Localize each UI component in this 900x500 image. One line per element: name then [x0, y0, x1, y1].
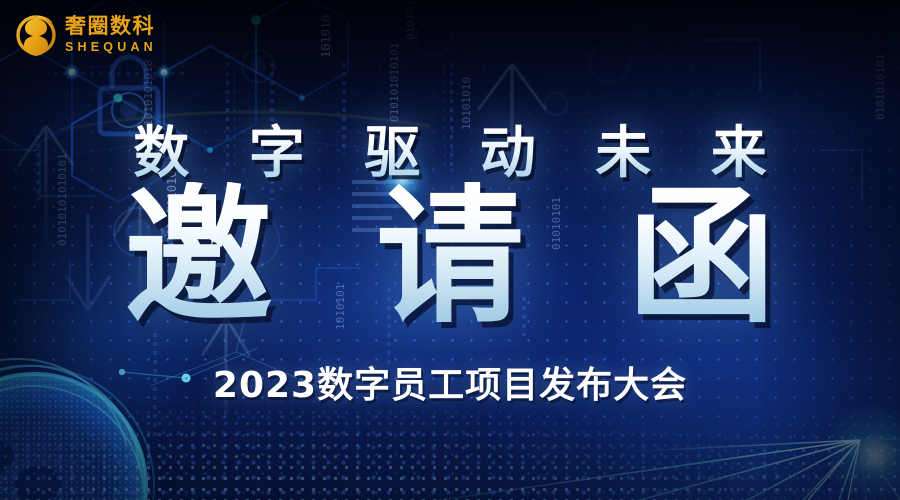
logo-name-en: SHEQUAN	[65, 41, 157, 54]
invitation-banner: 01010101010101 1010101010 010101010101 0…	[0, 0, 900, 500]
subtitle: 2023数字员工项目发布大会	[0, 356, 900, 408]
banner-text-block: 数 字 驱 动 未 来 邀 请 函 2023数字员工项目发布大会	[0, 0, 900, 500]
brand-logo[interactable]: 奢圈数科 SHEQUAN	[14, 12, 157, 58]
shequan-monogram-icon	[14, 12, 58, 58]
page-title: 邀 请 函	[0, 182, 900, 333]
logo-name-cn: 奢圈数科	[65, 16, 157, 37]
